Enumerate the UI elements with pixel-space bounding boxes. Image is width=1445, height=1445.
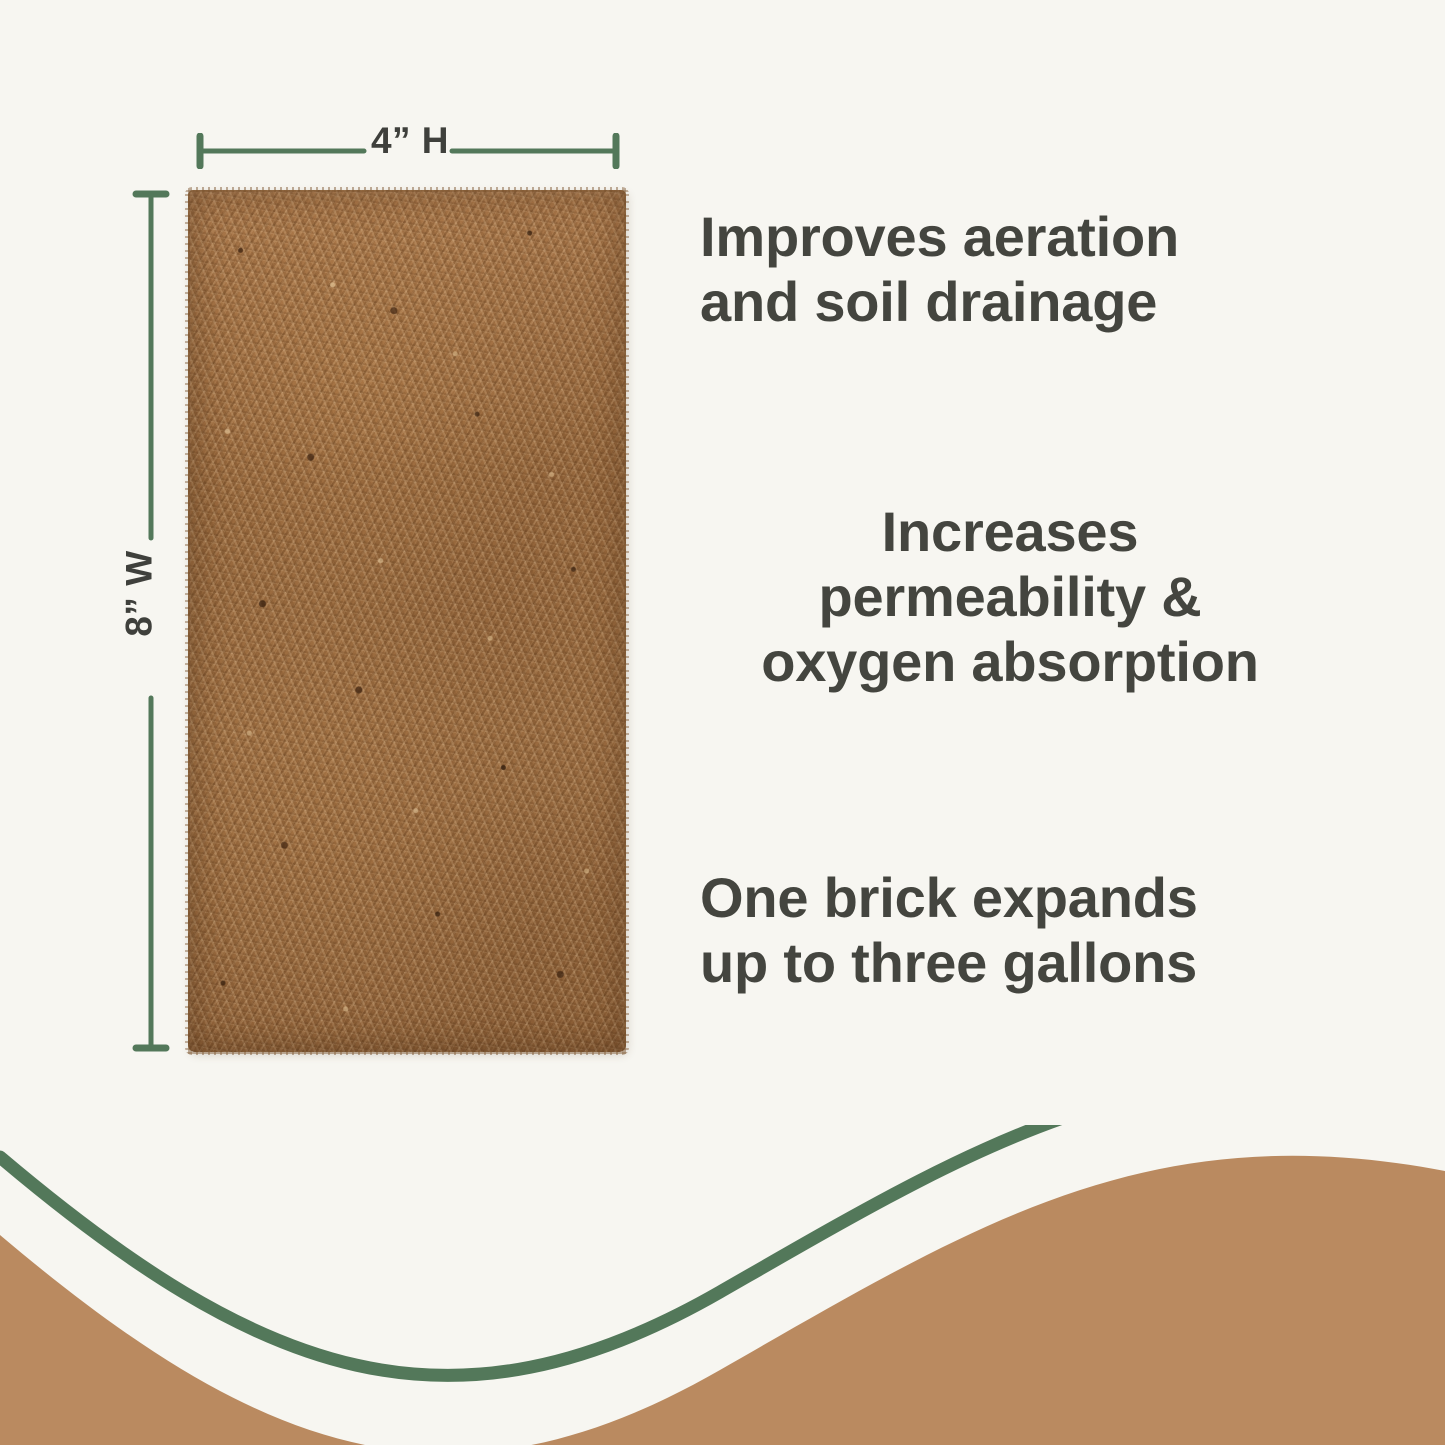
wave-fill [0, 1156, 1445, 1445]
benefit-expansion-line-2: up to three gallons [700, 931, 1320, 996]
benefit-expansion-line-1: One brick expands [700, 866, 1320, 931]
coir-brick-image [188, 190, 626, 1052]
bottom-wave-svg [0, 1125, 1445, 1445]
benefit-expansion: One brick expands up to three gallons [700, 866, 1320, 996]
side-dimension-label: 8” W [121, 539, 158, 649]
benefit-aeration-line-1: Improves aeration [700, 205, 1320, 270]
product-infographic: 4” H 8” W Improves aeration and soil dra… [0, 0, 1445, 1445]
benefit-permeability-line-2: permeability & [700, 565, 1320, 630]
bottom-wave-decoration [0, 1125, 1445, 1445]
benefit-permeability-line-1: Increases [700, 500, 1320, 565]
wave-accent-line [0, 1125, 1445, 1375]
benefit-aeration: Improves aeration and soil drainage [700, 205, 1320, 335]
benefit-permeability: Increases permeability & oxygen absorpti… [700, 500, 1320, 695]
coir-brick-body [188, 190, 626, 1052]
top-dimension-label: 4” H [355, 122, 465, 159]
benefit-aeration-line-2: and soil drainage [700, 270, 1320, 335]
benefit-permeability-line-3: oxygen absorption [700, 630, 1320, 695]
